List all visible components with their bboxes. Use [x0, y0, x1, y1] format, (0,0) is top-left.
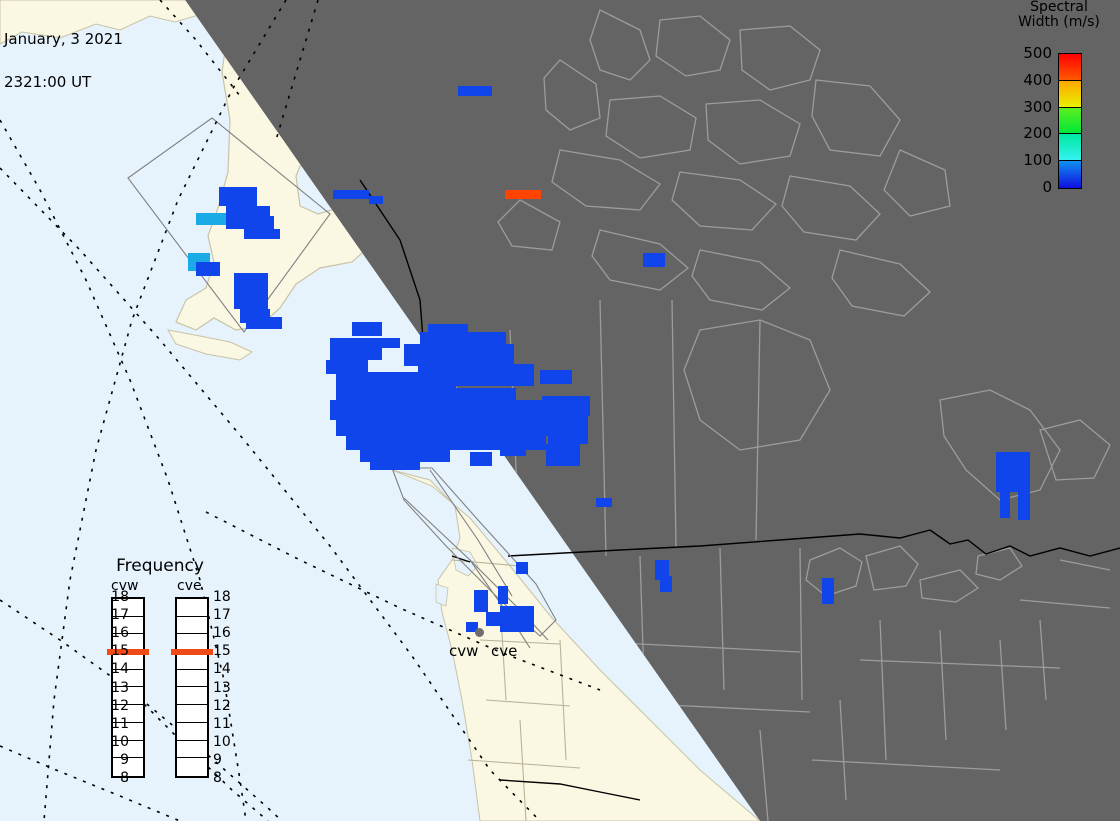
gauge-cell: [177, 758, 207, 776]
gauge-tick-label: 18: [107, 590, 129, 604]
timestamp-time: 2321:00 UT: [4, 75, 123, 90]
scatter-cell: [540, 370, 572, 384]
gauge-tick-label: 15: [107, 644, 129, 658]
colorbar-tick: 300: [1000, 100, 1052, 115]
scatter-cell: [643, 253, 665, 267]
colorbar-gradient: [1058, 53, 1082, 189]
gauge-tick-label: 16: [107, 626, 129, 640]
scatter-cell: [336, 372, 456, 390]
gauge-tick-label: 10: [213, 735, 235, 749]
colorbar-tick: 500: [1000, 46, 1052, 61]
frequency-gauge-cve[interactable]: [175, 597, 209, 778]
gauge-cell: [177, 741, 207, 759]
colorbar-title: Spectral Width (m/s): [1000, 0, 1118, 30]
scatter-cell: [542, 396, 590, 416]
gauge-tick-label: 14: [213, 662, 235, 676]
gauge-tick-label: 17: [107, 608, 129, 622]
radar-site-dot: [475, 628, 484, 637]
colorbar-segment-300-400: [1059, 81, 1081, 108]
scatter-cell: [596, 498, 612, 507]
scatter-cell: [219, 187, 257, 206]
scatter-cell: [548, 414, 588, 444]
gauge-tick-label: 12: [213, 699, 235, 713]
gauge-cell: [177, 670, 207, 688]
scatter-cell: [486, 612, 502, 626]
scatter-cell: [458, 86, 492, 96]
colorbar-tick: 400: [1000, 73, 1052, 88]
spectral-width-colorbar: Spectral Width (m/s) 5004003002001000: [1000, 0, 1120, 200]
colorbar-title-line2: Width (m/s): [1000, 15, 1118, 30]
gauge-tick-label: 9: [213, 753, 235, 767]
radar-map-figure: January, 3 2021 2321:00 UT Spectral Widt…: [0, 0, 1120, 821]
station-label-cvw: cvw: [449, 642, 478, 660]
gauge-tick-label: 17: [213, 608, 235, 622]
gauge-tick-label: 11: [213, 717, 235, 731]
scatter-cell: [546, 444, 580, 466]
gauge-tick-label: 14: [107, 662, 129, 676]
scatter-cell: [1000, 488, 1010, 518]
scatter-cell: [660, 576, 672, 592]
timestamp: January, 3 2021 2321:00 UT: [4, 4, 123, 118]
colorbar-segment-200-300: [1059, 108, 1081, 135]
scatter-cell: [500, 606, 534, 632]
scatter-cell: [333, 190, 369, 199]
scatter-cell: [234, 273, 268, 309]
frequency-panel: Frequency cvw 18171615141312111098 cve: [85, 556, 240, 796]
colorbar-segment-100-200: [1059, 134, 1081, 161]
scatter-cell: [330, 338, 400, 348]
colorbar-title-line1: Spectral: [1000, 0, 1118, 15]
gauge-tick-label: 8: [107, 771, 129, 785]
scatter-cell: [404, 344, 514, 366]
gauge-cell: [177, 687, 207, 705]
scatter-cell: [196, 262, 220, 276]
scatter-cell: [505, 190, 541, 199]
gauge-tick-label: 16: [213, 626, 235, 640]
scatter-cell: [226, 216, 274, 229]
gauge-tick-label: 8: [213, 771, 235, 785]
gauge-cell: [177, 723, 207, 741]
scatter-cell: [370, 456, 420, 470]
colorbar-tick: 0: [1000, 180, 1052, 195]
gauge-ticks-cve: 18171615141312111098: [213, 597, 235, 778]
scatter-cell: [330, 348, 382, 360]
colorbar-segment-400-500: [1059, 54, 1081, 81]
gauge-cell: [177, 599, 207, 617]
scatter-cell: [326, 360, 368, 374]
scatter-cell: [498, 586, 508, 604]
colorbar-tick: 100: [1000, 153, 1052, 168]
scatter-cell: [516, 562, 528, 574]
frequency-panel-title: Frequency: [85, 556, 235, 576]
gauge-tick-label: 12: [107, 699, 129, 713]
gauge-tick-label: 9: [107, 753, 129, 767]
scatter-cell: [244, 229, 280, 239]
scatter-cell: [352, 322, 382, 336]
scatter-cell: [500, 440, 526, 456]
gauge-tick-label: 10: [107, 735, 129, 749]
gauge-label-cve: cve: [177, 578, 202, 594]
gauge-cell: [177, 705, 207, 723]
colorbar-tick: 200: [1000, 126, 1052, 141]
gauge-tick-label: 11: [107, 717, 129, 731]
colorbar-segment-0-100: [1059, 161, 1081, 188]
scatter-cell: [470, 452, 492, 466]
scatter-cell: [196, 213, 226, 225]
frequency-marker-cve: [171, 649, 213, 655]
scatter-cell: [246, 317, 282, 329]
scatter-cell: [1018, 488, 1030, 520]
scatter-cell: [474, 590, 488, 612]
gauge-tick-label: 13: [213, 681, 235, 695]
scatter-cell: [996, 452, 1030, 492]
station-label-cve: cve: [491, 642, 517, 660]
gauge-tick-label: 15: [213, 644, 235, 658]
timestamp-date: January, 3 2021: [4, 32, 123, 47]
scatter-cell: [369, 196, 383, 204]
gauge-tick-label: 13: [107, 681, 129, 695]
scatter-cell: [226, 206, 270, 216]
gauge-tick-label: 18: [213, 590, 235, 604]
gauge-cell: [177, 617, 207, 635]
scatter-cell: [822, 578, 834, 604]
gauge-ticks-cvw: 18171615141312111098: [85, 597, 107, 778]
